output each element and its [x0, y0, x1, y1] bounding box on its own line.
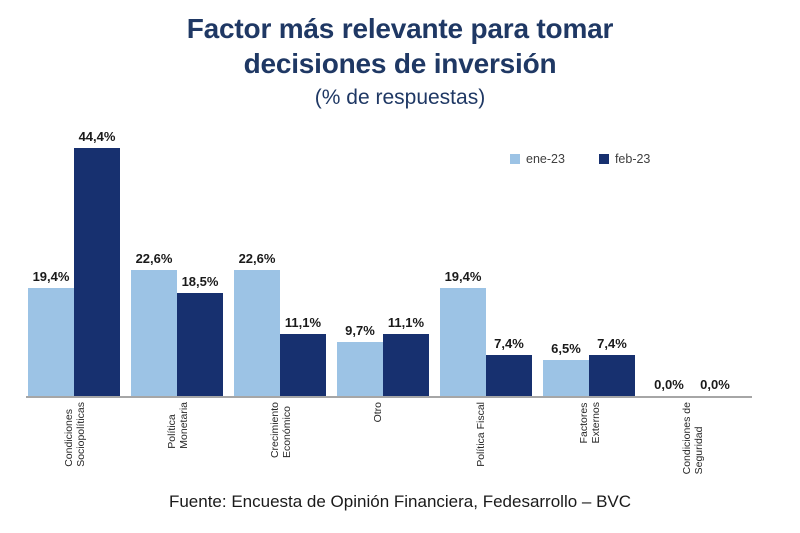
- x-axis-label-7: Condiciones deSeguridad: [681, 402, 706, 474]
- x-axis-label-5: Política Fiscal: [475, 402, 487, 467]
- bar-value-label-ene-23-7: 0,0%: [646, 377, 692, 392]
- bar-feb-23-2[interactable]: [177, 293, 223, 396]
- bar-feb-23-1[interactable]: [74, 148, 120, 396]
- bar-ene-23-3[interactable]: [234, 270, 280, 396]
- bar-value-label-feb-23-4: 11,1%: [383, 315, 429, 330]
- x-axis-label-1: CondicionesSociopolíticas: [63, 402, 88, 467]
- bar-value-label-ene-23-1: 19,4%: [28, 269, 74, 284]
- bar-feb-23-3[interactable]: [280, 334, 326, 396]
- x-axis-label-6: FactoresExternos: [578, 402, 603, 443]
- x-axis-line: [26, 396, 752, 398]
- bar-ene-23-4[interactable]: [337, 342, 383, 396]
- bar-value-label-ene-23-2: 22,6%: [131, 251, 177, 266]
- bar-value-label-feb-23-7: 0,0%: [692, 377, 738, 392]
- bar-value-label-feb-23-2: 18,5%: [177, 274, 223, 289]
- plot-area: 19,4%44,4%22,6%18,5%22,6%11,1%9,7%11,1%1…: [0, 0, 800, 533]
- bar-value-label-ene-23-5: 19,4%: [440, 269, 486, 284]
- bar-value-label-feb-23-5: 7,4%: [486, 336, 532, 351]
- bar-value-label-feb-23-3: 11,1%: [280, 315, 326, 330]
- bar-value-label-feb-23-6: 7,4%: [589, 336, 635, 351]
- bar-ene-23-5[interactable]: [440, 288, 486, 396]
- bar-feb-23-5[interactable]: [486, 355, 532, 396]
- bar-ene-23-2[interactable]: [131, 270, 177, 396]
- bar-value-label-feb-23-1: 44,4%: [74, 129, 120, 144]
- x-axis-label-2: PolíticaMonetaria: [166, 402, 191, 449]
- bar-value-label-ene-23-4: 9,7%: [337, 323, 383, 338]
- bar-ene-23-6[interactable]: [543, 360, 589, 396]
- chart-slide: Factor más relevante para tomar decision…: [0, 0, 800, 533]
- source-note: Fuente: Encuesta de Opinión Financiera, …: [0, 492, 800, 512]
- bar-value-label-ene-23-6: 6,5%: [543, 341, 589, 356]
- bar-value-label-ene-23-3: 22,6%: [234, 251, 280, 266]
- x-axis-label-3: CrecimientoEconómico: [269, 402, 294, 458]
- bar-feb-23-4[interactable]: [383, 334, 429, 396]
- bar-feb-23-6[interactable]: [589, 355, 635, 396]
- x-axis-label-4: Otro: [372, 402, 384, 422]
- bar-ene-23-1[interactable]: [28, 288, 74, 396]
